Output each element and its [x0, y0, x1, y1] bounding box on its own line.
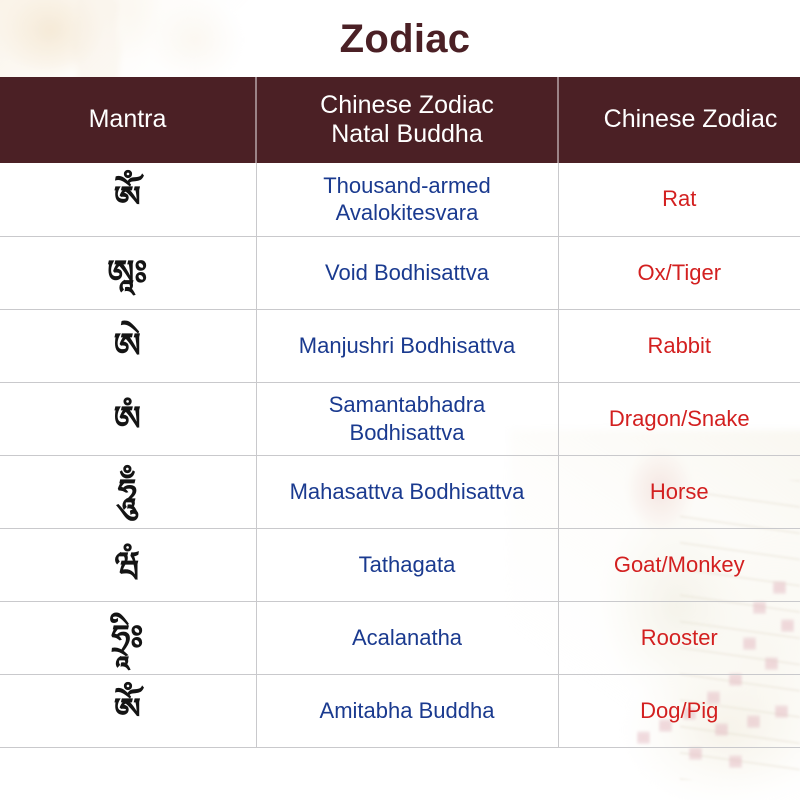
- seed-syllable-om-icon: ཨོཾ: [0, 163, 256, 236]
- column-header-natal-buddha: Chinese Zodiac Natal Buddha: [256, 77, 558, 163]
- table-row: ཨེ Manjushri Bodhisattva Rabbit: [0, 309, 800, 382]
- page-title: Zodiac: [330, 19, 471, 59]
- table-row: ཝཾ Tathagata Goat/Monkey: [0, 528, 800, 601]
- column-header-chinese-zodiac: Chinese Zodiac: [558, 77, 800, 163]
- natal-buddha-value: Acalanatha: [256, 601, 558, 674]
- chinese-zodiac-value: Rooster: [558, 601, 800, 674]
- seed-syllable-hrih-icon: ཧྲཱིཿ: [0, 601, 256, 674]
- chinese-zodiac-value: Horse: [558, 455, 800, 528]
- table-header: Mantra Chinese Zodiac Natal Buddha Chine…: [0, 77, 800, 163]
- seed-syllable-hum-icon: ཧཱུྃ: [0, 455, 256, 528]
- natal-buddha-value: Thousand-armed Avalokitesvara: [256, 163, 558, 236]
- chinese-zodiac-value: Dog/Pig: [558, 674, 800, 747]
- chinese-zodiac-value: Rat: [558, 163, 800, 236]
- chinese-zodiac-value: Dragon/Snake: [558, 382, 800, 455]
- table-row: ཨོཾ Thousand-armed Avalokitesvara Rat: [0, 163, 800, 236]
- zodiac-page: Zodiac Mantra Chinese Zodiac Natal Buddh…: [0, 0, 800, 800]
- chinese-zodiac-value: Ox/Tiger: [558, 236, 800, 309]
- seed-syllable-ah-icon: ཨཱཿ: [0, 236, 256, 309]
- table-row: ཨཱཿ Void Bodhisattva Ox/Tiger: [0, 236, 800, 309]
- table-row: ཧཱུྃ Mahasattva Bodhisattva Horse: [0, 455, 800, 528]
- seed-syllable-om-2-icon: ཨོཾ: [0, 674, 256, 747]
- seed-syllable-vam-icon: ཝཾ: [0, 528, 256, 601]
- zodiac-table: Mantra Chinese Zodiac Natal Buddha Chine…: [0, 77, 800, 748]
- table-row: ཨོཾ Amitabha Buddha Dog/Pig: [0, 674, 800, 747]
- natal-buddha-value: Manjushri Bodhisattva: [256, 309, 558, 382]
- natal-buddha-value: Mahasattva Bodhisattva: [256, 455, 558, 528]
- natal-buddha-value: Void Bodhisattva: [256, 236, 558, 309]
- table-body: ཨོཾ Thousand-armed Avalokitesvara Rat ཨཱ…: [0, 163, 800, 747]
- page-title-bar: Zodiac: [0, 0, 800, 77]
- seed-syllable-am-icon: ཨཾ: [0, 382, 256, 455]
- chinese-zodiac-value: Goat/Monkey: [558, 528, 800, 601]
- chinese-zodiac-value: Rabbit: [558, 309, 800, 382]
- table-row: ཧྲཱིཿ Acalanatha Rooster: [0, 601, 800, 674]
- seed-syllable-e-icon: ཨེ: [0, 309, 256, 382]
- natal-buddha-value: Tathagata: [256, 528, 558, 601]
- column-header-mantra: Mantra: [0, 77, 256, 163]
- natal-buddha-value: Amitabha Buddha: [256, 674, 558, 747]
- table-row: ཨཾ Samantabhadra Bodhisattva Dragon/Snak…: [0, 382, 800, 455]
- natal-buddha-value: Samantabhadra Bodhisattva: [256, 382, 558, 455]
- table-header-row: Mantra Chinese Zodiac Natal Buddha Chine…: [0, 77, 800, 163]
